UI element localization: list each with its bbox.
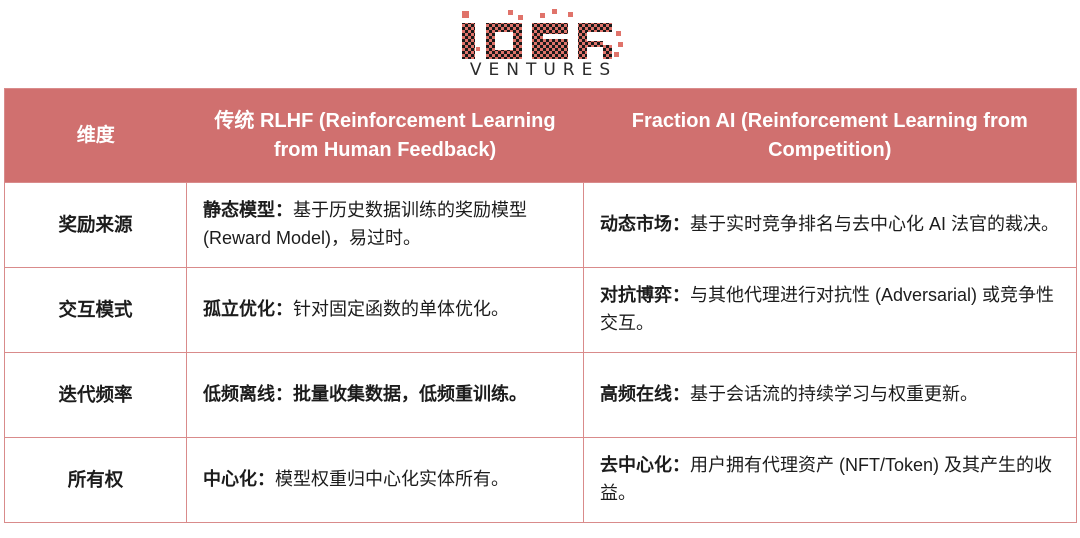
cell-lead-term: 动态市场： <box>600 214 690 234</box>
cell-rlhf: 孤立优化：针对固定函数的单体优化。 <box>187 268 584 353</box>
column-header-fraction-ai: Fraction AI (Reinforcement Learning from… <box>584 89 1077 183</box>
cell-body-text: 基于会话流的持续学习与权重更新。 <box>690 384 978 404</box>
cell-lead-term: 低频离线： <box>203 384 293 404</box>
column-header-rlhf: 传统 RLHF (Reinforcement Learning from Hum… <box>187 89 584 183</box>
table-header-row: 维度 传统 RLHF (Reinforcement Learning from … <box>5 89 1077 183</box>
cell-lead-term: 去中心化： <box>600 455 690 475</box>
row-dimension-label: 交互模式 <box>5 268 187 353</box>
cell-fraction-ai: 去中心化：用户拥有代理资产 (NFT/Token) 及其产生的收益。 <box>584 438 1077 523</box>
comparison-table-container: 维度 传统 RLHF (Reinforcement Learning from … <box>0 88 1080 523</box>
cell-rlhf: 低频离线：批量收集数据，低频重训练。 <box>187 353 584 438</box>
table-row: 交互模式 孤立优化：针对固定函数的单体优化。 对抗博弈：与其他代理进行对抗性 (… <box>5 268 1077 353</box>
cell-fraction-ai: 高频在线：基于会话流的持续学习与权重更新。 <box>584 353 1077 438</box>
cell-lead-term: 对抗博弈： <box>600 285 690 305</box>
cell-lead-term: 高频在线： <box>600 384 690 404</box>
cell-lead-term: 孤立优化： <box>203 299 293 319</box>
table-header: 维度 传统 RLHF (Reinforcement Learning from … <box>5 89 1077 183</box>
cell-fraction-ai: 对抗博弈：与其他代理进行对抗性 (Adversarial) 或竞争性交互。 <box>584 268 1077 353</box>
cell-body-text: 批量收集数据，低频重训练。 <box>293 384 527 404</box>
logo-wordmark: VENTURES <box>463 62 617 79</box>
column-header-dimension: 维度 <box>5 89 187 183</box>
row-dimension-label: 迭代频率 <box>5 353 187 438</box>
cell-lead-term: 静态模型： <box>203 200 293 220</box>
cell-lead-term: 中心化： <box>203 469 275 489</box>
comparison-table: 维度 传统 RLHF (Reinforcement Learning from … <box>4 88 1077 523</box>
row-dimension-label: 奖励来源 <box>5 183 187 268</box>
cell-body-text: 模型权重归中心化实体所有。 <box>275 469 509 489</box>
iosg-logo-icon <box>456 9 624 59</box>
cell-body-text: 针对固定函数的单体优化。 <box>293 299 509 319</box>
table-row: 迭代频率 低频离线：批量收集数据，低频重训练。 高频在线：基于会话流的持续学习与… <box>5 353 1077 438</box>
table-body: 奖励来源 静态模型：基于历史数据训练的奖励模型 (Reward Model)，易… <box>5 183 1077 523</box>
cell-rlhf: 中心化：模型权重归中心化实体所有。 <box>187 438 584 523</box>
table-row: 奖励来源 静态模型：基于历史数据训练的奖励模型 (Reward Model)，易… <box>5 183 1077 268</box>
row-dimension-label: 所有权 <box>5 438 187 523</box>
cell-body-text: 基于实时竞争排名与去中心化 AI 法官的裁决。 <box>690 214 1059 234</box>
table-row: 所有权 中心化：模型权重归中心化实体所有。 去中心化：用户拥有代理资产 (NFT… <box>5 438 1077 523</box>
brand-logo: VENTURES <box>0 0 1080 88</box>
cell-rlhf: 静态模型：基于历史数据训练的奖励模型 (Reward Model)，易过时。 <box>187 183 584 268</box>
cell-fraction-ai: 动态市场：基于实时竞争排名与去中心化 AI 法官的裁决。 <box>584 183 1077 268</box>
